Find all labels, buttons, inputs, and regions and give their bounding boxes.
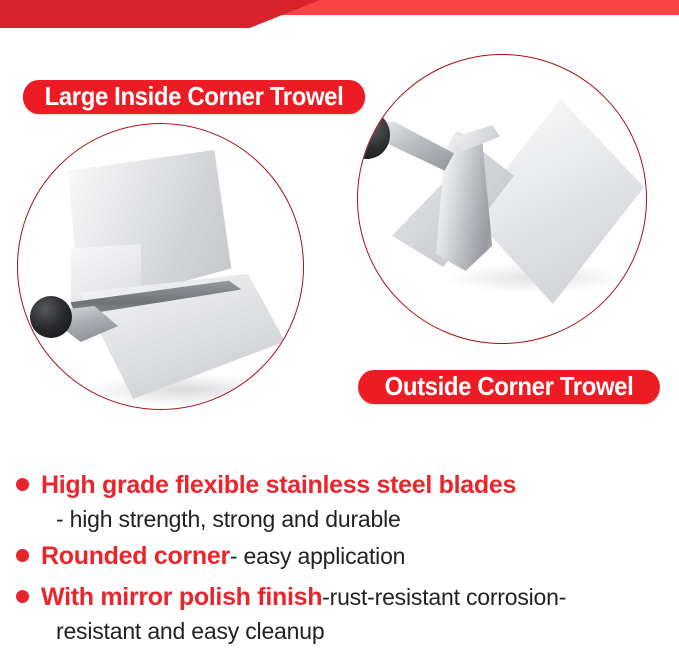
feature-headline: High grade flexible stainless steel blad…	[16, 470, 666, 504]
feature-list: High grade flexible stainless steel blad…	[16, 470, 666, 653]
feature-title: Rounded corner	[41, 542, 230, 570]
feature-item: High grade flexible stainless steel blad…	[16, 470, 666, 534]
feature-subtext: - high strength, strong and durable	[56, 504, 666, 534]
handle-knob-black	[358, 111, 390, 159]
feature-headline: Rounded corner- easy application	[16, 541, 666, 575]
product-photo-inside-corner-trowel	[17, 123, 304, 410]
photo-stage-right	[358, 55, 646, 343]
label-outside-corner-trowel: Outside Corner Trowel	[358, 370, 660, 404]
banner-dark-stripe	[0, 0, 320, 28]
feature-headline: With mirror polish finish-rust-resistant…	[16, 582, 666, 616]
bullet-dot-icon	[16, 590, 29, 603]
feature-title: High grade flexible stainless steel blad…	[41, 471, 516, 499]
product-infographic: Large Inside Corner Trowel Outside Corne…	[0, 0, 679, 659]
feature-title: With mirror polish finish	[41, 583, 322, 611]
photo-stage-left	[18, 124, 303, 409]
feature-item: With mirror polish finish-rust-resistant…	[16, 582, 666, 646]
bullet-dot-icon	[16, 549, 29, 562]
feature-inline-text: -rust-resistant corrosion-	[322, 584, 566, 610]
label-inside-corner-trowel: Large Inside Corner Trowel	[23, 80, 365, 114]
product-photo-outside-corner-trowel	[357, 54, 647, 344]
feature-item: Rounded corner- easy application	[16, 541, 666, 575]
bullet-dot-icon	[16, 478, 29, 491]
feature-inline-text: - easy application	[230, 543, 405, 569]
handle-knob-black	[30, 296, 72, 338]
feature-wrapped-text: resistant and easy cleanup	[56, 616, 666, 646]
